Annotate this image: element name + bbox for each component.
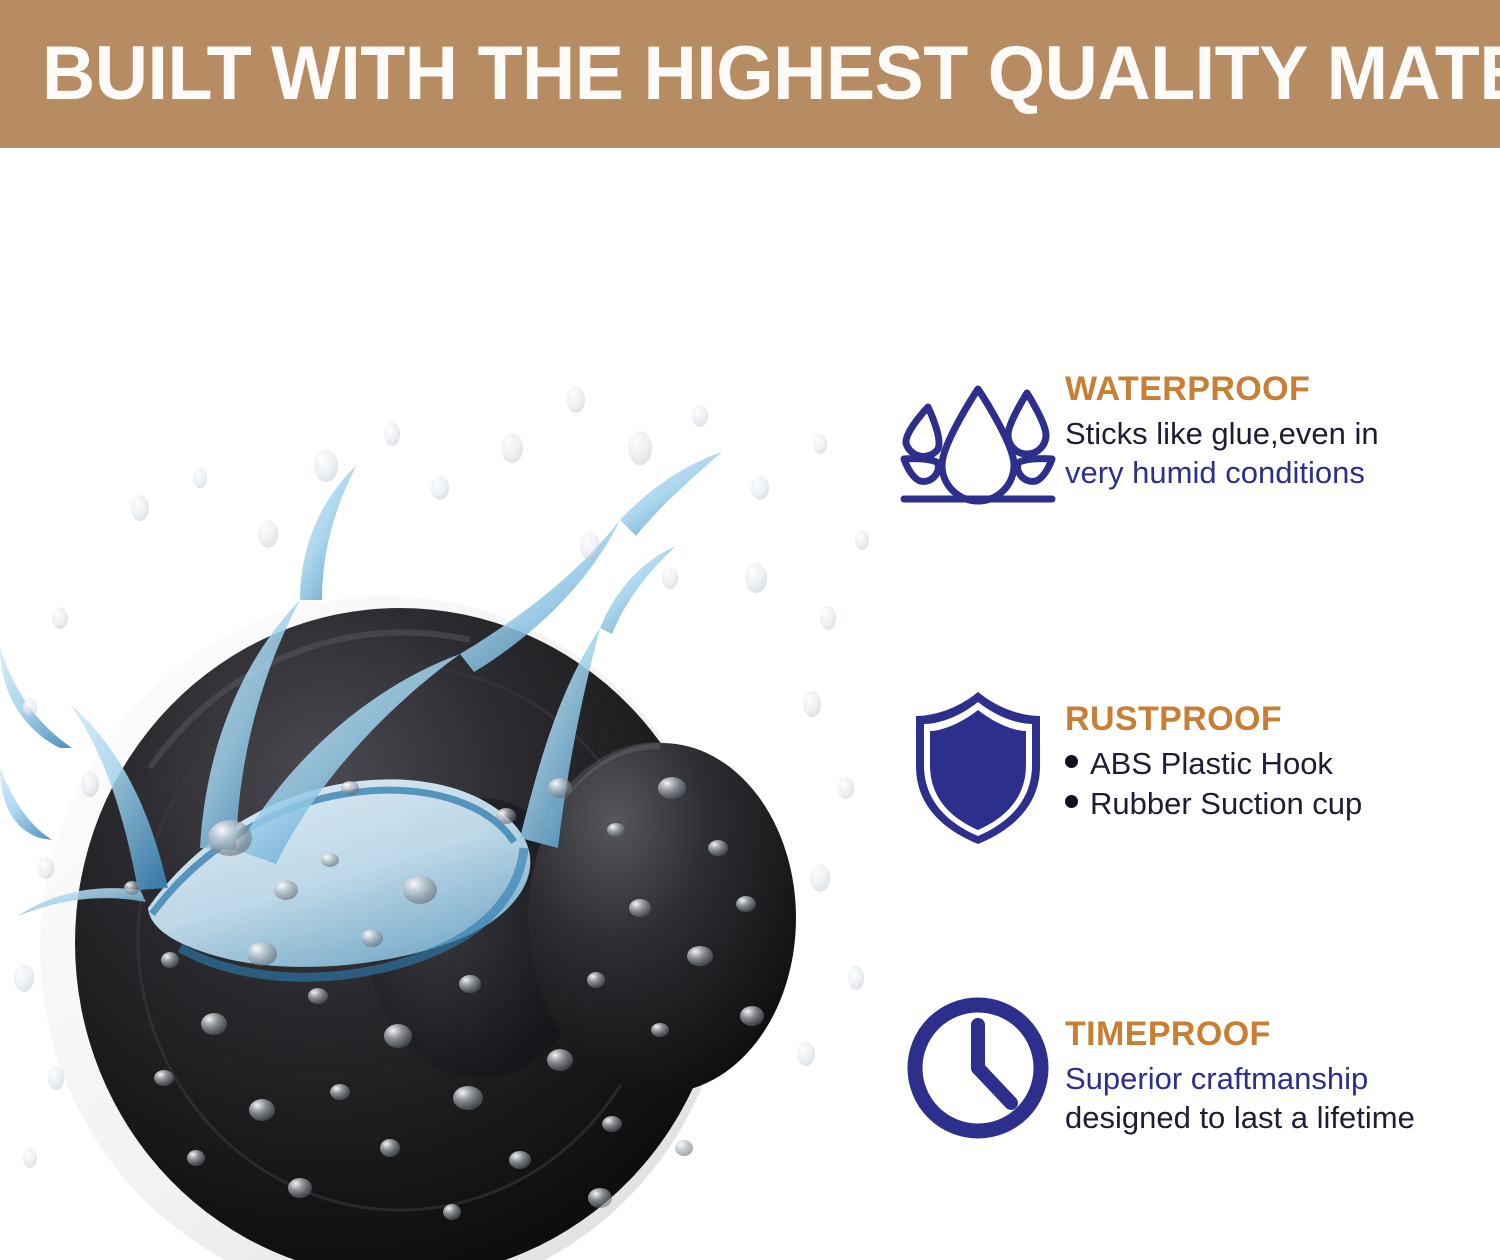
feature-waterproof-desc-line-1: Sticks like glue,even in <box>1065 414 1379 454</box>
feature-waterproof-text: WATERPROOF Sticks like glue,even in very… <box>1065 368 1379 493</box>
product-infographic: BUILT WITH THE HIGHEST QUALITY MATERIALS <box>0 0 1500 1260</box>
feature-timeproof-text: TIMEPROOF Superior craftmanship designed… <box>1065 993 1415 1138</box>
shield-icon <box>890 688 1065 863</box>
bullet-item: Rubber Suction cup <box>1065 784 1362 824</box>
feature-rustproof-bullets: ABS Plastic Hook Rubber Suction cup <box>1065 744 1362 825</box>
feature-rustproof-text: RUSTPROOF ABS Plastic Hook Rubber Suctio… <box>1065 688 1362 824</box>
feature-timeproof-desc-line-1: Superior craftmanship <box>1065 1059 1415 1099</box>
feature-waterproof-heading: WATERPROOF <box>1065 372 1379 408</box>
bullet-dot-icon <box>1065 795 1078 808</box>
feature-timeproof: TIMEPROOF Superior craftmanship designed… <box>890 993 1500 1168</box>
water-drops-icon <box>890 368 1065 518</box>
banner-title: BUILT WITH THE HIGHEST QUALITY MATERIALS <box>42 36 1500 112</box>
feature-timeproof-heading: TIMEPROOF <box>1065 1017 1415 1053</box>
bullet-dot-icon <box>1065 755 1078 768</box>
feature-rustproof-heading: RUSTPROOF <box>1065 702 1362 738</box>
feature-timeproof-description: Superior craftmanship designed to last a… <box>1065 1059 1415 1138</box>
bullet-label: ABS Plastic Hook <box>1090 744 1333 784</box>
header-banner: BUILT WITH THE HIGHEST QUALITY MATERIALS <box>0 0 1500 148</box>
feature-waterproof-description: Sticks like glue,even in very humid cond… <box>1065 414 1379 493</box>
feature-waterproof-desc-line-2: very humid conditions <box>1065 453 1379 493</box>
bullet-item: ABS Plastic Hook <box>1065 744 1362 784</box>
product-image-panel <box>0 148 890 1260</box>
bullet-label: Rubber Suction cup <box>1090 784 1362 824</box>
feature-timeproof-desc-line-2: designed to last a lifetime <box>1065 1098 1415 1138</box>
clock-icon <box>890 993 1065 1168</box>
feature-waterproof: WATERPROOF Sticks like glue,even in very… <box>890 368 1500 518</box>
product-photo <box>0 148 890 1260</box>
feature-rustproof: RUSTPROOF ABS Plastic Hook Rubber Suctio… <box>890 688 1500 863</box>
feature-list: WATERPROOF Sticks like glue,even in very… <box>890 148 1500 1260</box>
